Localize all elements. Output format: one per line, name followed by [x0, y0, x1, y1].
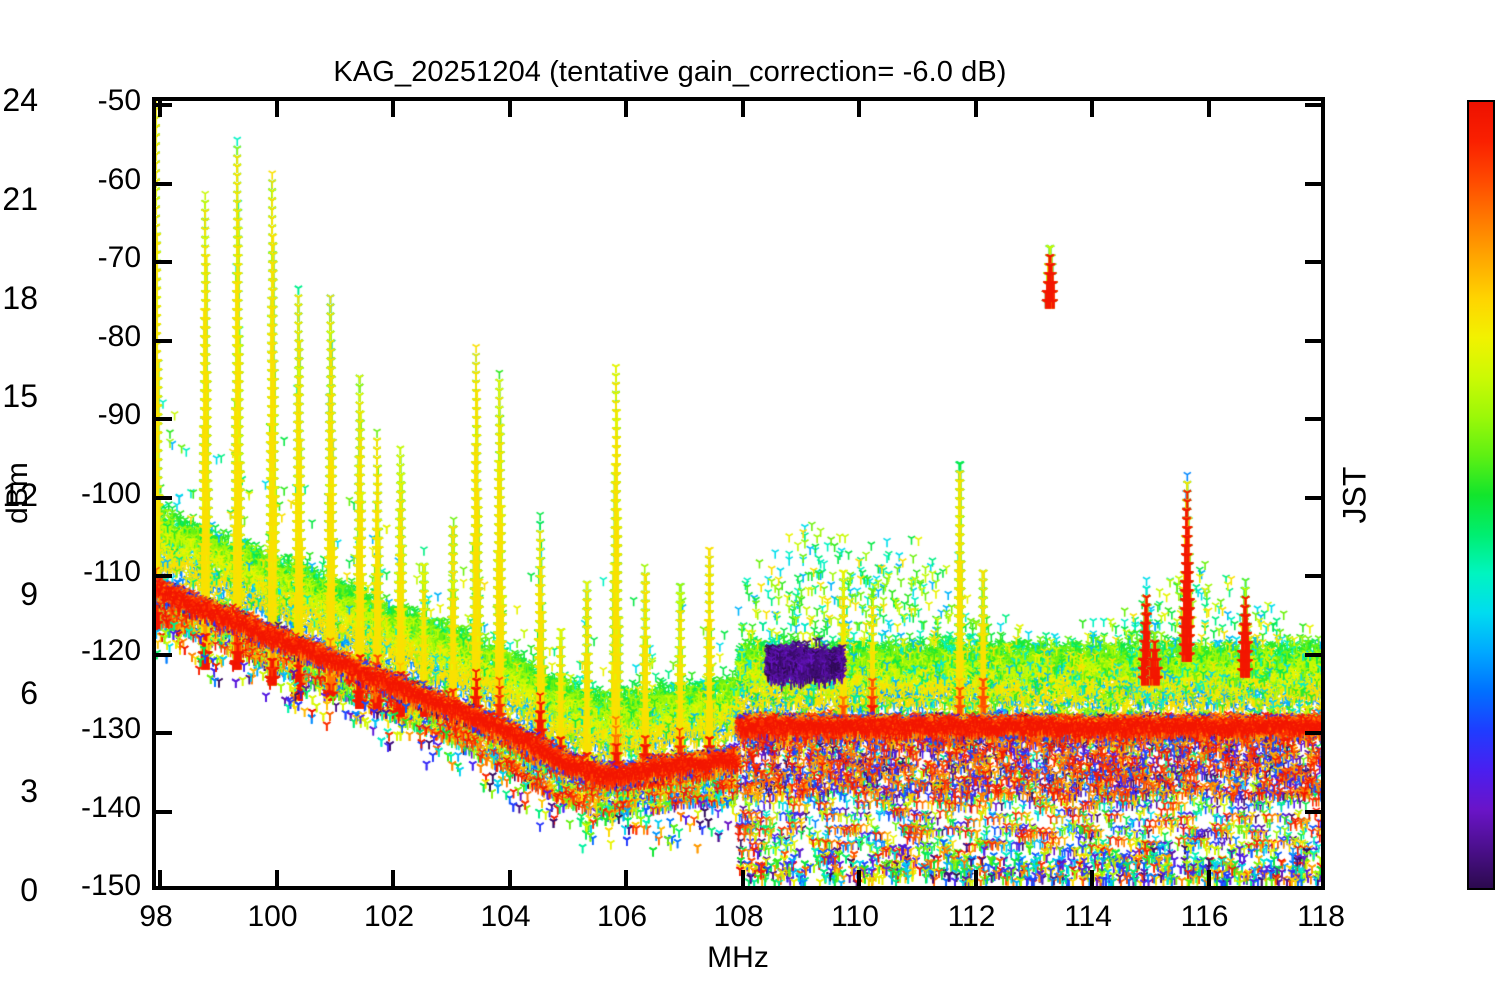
y-axis-tick	[155, 260, 172, 264]
colorbar-tick-label: 21	[2, 183, 38, 215]
colorbar-tick-label: 9	[20, 578, 38, 610]
x-axis-tick	[275, 870, 279, 887]
x-axis-tick	[974, 870, 978, 887]
x-axis-tick	[508, 870, 512, 887]
x-axis-tick-label: 110	[831, 902, 879, 932]
x-axis-tick	[741, 870, 745, 887]
colorbar-tick-label: 0	[20, 874, 38, 906]
x-axis-tick	[1207, 100, 1211, 117]
plot-area	[152, 97, 1325, 890]
y-axis-tick-label: -80	[98, 322, 141, 352]
y-axis-tick	[155, 653, 172, 657]
x-axis-tick	[974, 100, 978, 117]
x-axis-tick-label: 114	[1064, 902, 1112, 932]
y-axis-tick-label: -100	[81, 479, 141, 509]
y-axis-tick	[1305, 574, 1322, 578]
x-axis-tick	[1323, 100, 1325, 117]
y-axis-tick	[155, 182, 172, 186]
figure: KAG_20251204 (tentative gain_correction=…	[0, 0, 1500, 1000]
y-axis-tick-label: -140	[81, 793, 141, 823]
y-axis-tick	[155, 888, 172, 890]
x-axis-label: MHz	[707, 941, 769, 975]
x-axis-tick-label: 116	[1181, 902, 1229, 932]
y-axis-tick-label: -60	[98, 165, 141, 195]
x-axis-tick	[857, 870, 861, 887]
x-axis-tick-label: 98	[139, 902, 172, 932]
x-axis-tick-label: 118	[1297, 902, 1345, 932]
y-axis-tick-label: -90	[98, 400, 141, 430]
x-axis-tick-label: 102	[364, 902, 414, 932]
x-axis-tick-label: 112	[948, 902, 996, 932]
x-axis-tick	[1090, 100, 1094, 117]
y-axis-tick	[1305, 182, 1322, 186]
y-axis-tick	[1305, 103, 1322, 107]
y-axis-tick	[155, 810, 172, 814]
y-axis-tick-label: -130	[81, 714, 141, 744]
colorbar-tick-label: 15	[2, 380, 38, 412]
y-axis-tick	[155, 496, 172, 500]
y-axis-tick	[1305, 653, 1322, 657]
colorbar-title: JST	[1337, 467, 1374, 524]
x-axis-tick	[624, 870, 628, 887]
y-axis-tick	[1305, 731, 1322, 735]
y-axis-tick	[1305, 260, 1322, 264]
y-axis-tick	[1305, 496, 1322, 500]
y-axis-tick	[155, 339, 172, 343]
x-axis-tick-label: 100	[247, 902, 297, 932]
colorbar-tick-label: 18	[2, 282, 38, 314]
y-axis-tick	[155, 417, 172, 421]
y-axis-tick	[1305, 810, 1322, 814]
x-axis-tick	[857, 100, 861, 117]
y-axis-tick-label: -120	[81, 636, 141, 666]
x-axis-tick	[1207, 870, 1211, 887]
x-axis-tick	[1323, 870, 1325, 887]
colorbar	[1467, 100, 1495, 890]
y-axis-tick	[1305, 339, 1322, 343]
x-axis-tick	[391, 100, 395, 117]
x-axis-tick	[158, 100, 162, 117]
y-axis-tick-label: -150	[81, 871, 141, 901]
y-axis-tick-label: -50	[98, 86, 141, 116]
colorbar-tick-label: 6	[20, 677, 38, 709]
x-axis-tick-label: 108	[713, 902, 763, 932]
colorbar-gradient	[1469, 102, 1493, 888]
colorbar-tick-label: 24	[2, 84, 38, 116]
y-axis-tick	[1305, 888, 1322, 890]
x-axis-tick	[1090, 870, 1094, 887]
y-axis-tick	[155, 574, 172, 578]
y-axis-tick-label: -110	[83, 557, 141, 587]
x-axis-tick	[624, 100, 628, 117]
x-axis-tick-label: 106	[597, 902, 647, 932]
x-axis-tick	[741, 100, 745, 117]
scatter-canvas	[156, 101, 1321, 886]
x-axis-tick-label: 104	[480, 902, 530, 932]
x-axis-tick	[391, 870, 395, 887]
chart-title: KAG_20251204 (tentative gain_correction=…	[0, 56, 1340, 89]
colorbar-tick-label: 3	[20, 775, 38, 807]
y-axis-tick-label: -70	[98, 243, 141, 273]
y-axis-label: dBm	[1, 462, 35, 524]
x-axis-tick	[275, 100, 279, 117]
x-axis-tick	[508, 100, 512, 117]
y-axis-tick	[1305, 417, 1322, 421]
y-axis-tick	[155, 731, 172, 735]
x-axis-tick	[158, 870, 162, 887]
